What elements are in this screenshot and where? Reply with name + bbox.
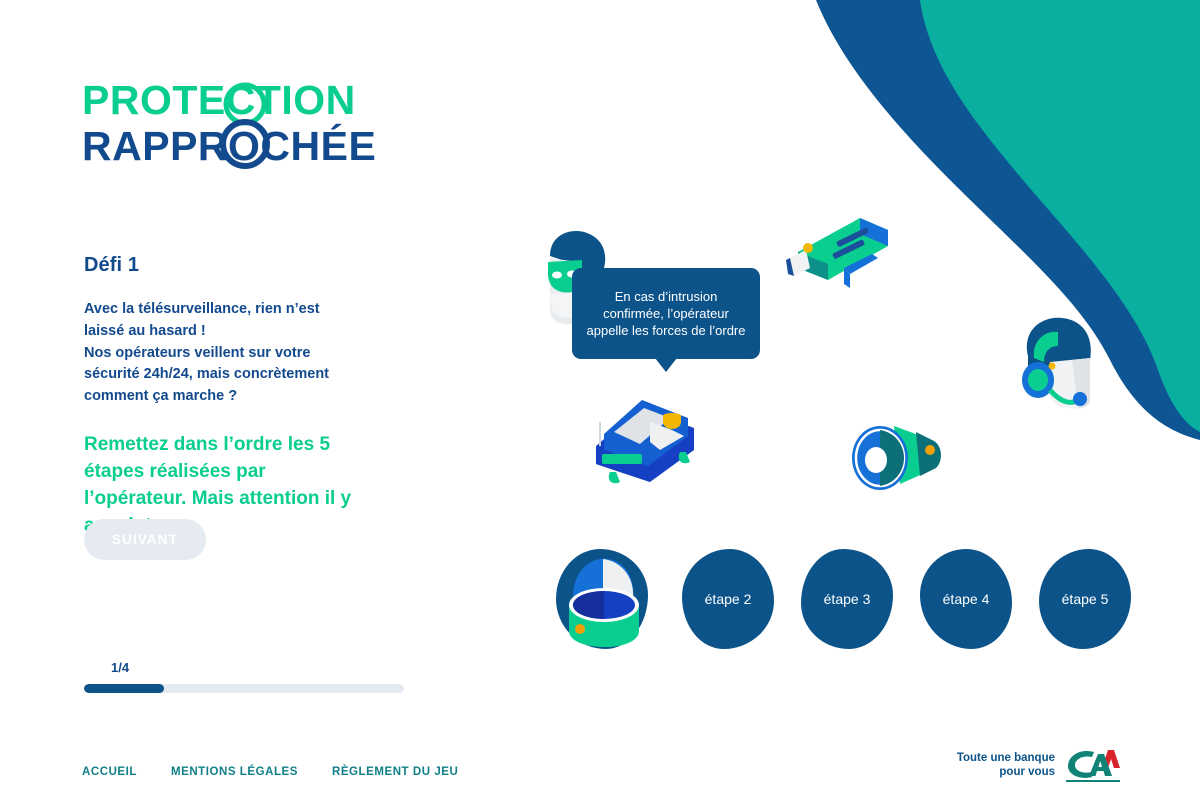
step-label: étape 3 [801, 549, 893, 649]
progress-fill [84, 684, 164, 693]
police-car-icon [576, 384, 716, 490]
step-slot-2[interactable]: étape 2 [682, 549, 774, 649]
challenge-copy: Défi 1 Avec la télésurveillance, rien n’… [84, 254, 384, 540]
step-label: étape 2 [682, 549, 774, 649]
step-slot-3[interactable]: étape 3 [801, 549, 893, 649]
siren-megaphone-icon [840, 410, 950, 502]
step-slot-4[interactable]: étape 4 [920, 549, 1012, 649]
speech-bubble: En cas d’intrusion confirmée, l’opérateu… [572, 268, 760, 359]
step-slots: étape 1étape 2étape 3étape 4étape 5 [556, 549, 1136, 661]
security-camera-icon [784, 206, 894, 296]
footer-link-2[interactable]: MENTIONS LÉGALES [171, 766, 298, 778]
challenge-intro: Avec la télésurveillance, rien n’est lai… [84, 299, 356, 408]
bank-slogan: Toute une banque pour vous [957, 751, 1055, 779]
progress-label: 1/4 [111, 660, 404, 675]
logo-line-1: PROTECTION [82, 77, 356, 123]
footer-navigation: ACCUEILMENTIONS LÉGALESRÈGLEMENT DU JEU [82, 766, 458, 778]
step-label: étape 5 [1039, 549, 1131, 649]
headset-operator-icon [1012, 312, 1102, 412]
next-button[interactable]: SUIVANT [84, 519, 206, 560]
credit-agricole-logo: Toute une banque pour vous [957, 746, 1122, 784]
alarm-siren-icon[interactable] [547, 539, 659, 657]
speech-bubble-text: En cas d’intrusion confirmée, l’opérateu… [586, 288, 746, 340]
step-label: étape 4 [920, 549, 1012, 649]
step-slot-1[interactable]: étape 1 [556, 549, 648, 649]
progress-section: 1/4 [84, 660, 404, 693]
step-slot-5[interactable]: étape 5 [1039, 549, 1131, 649]
progress-track [84, 684, 404, 693]
brand-logo: PROTECTION RAPPROCHÉE [82, 72, 382, 182]
footer-link-1[interactable]: ACCUEIL [82, 766, 137, 778]
footer-link-3[interactable]: RÈGLEMENT DU JEU [332, 766, 458, 778]
page-root: PROTECTION RAPPROCHÉE Défi 1 Avec la tél… [0, 0, 1200, 800]
ca-mark-icon [1064, 746, 1122, 784]
challenge-title: Défi 1 [84, 254, 384, 277]
